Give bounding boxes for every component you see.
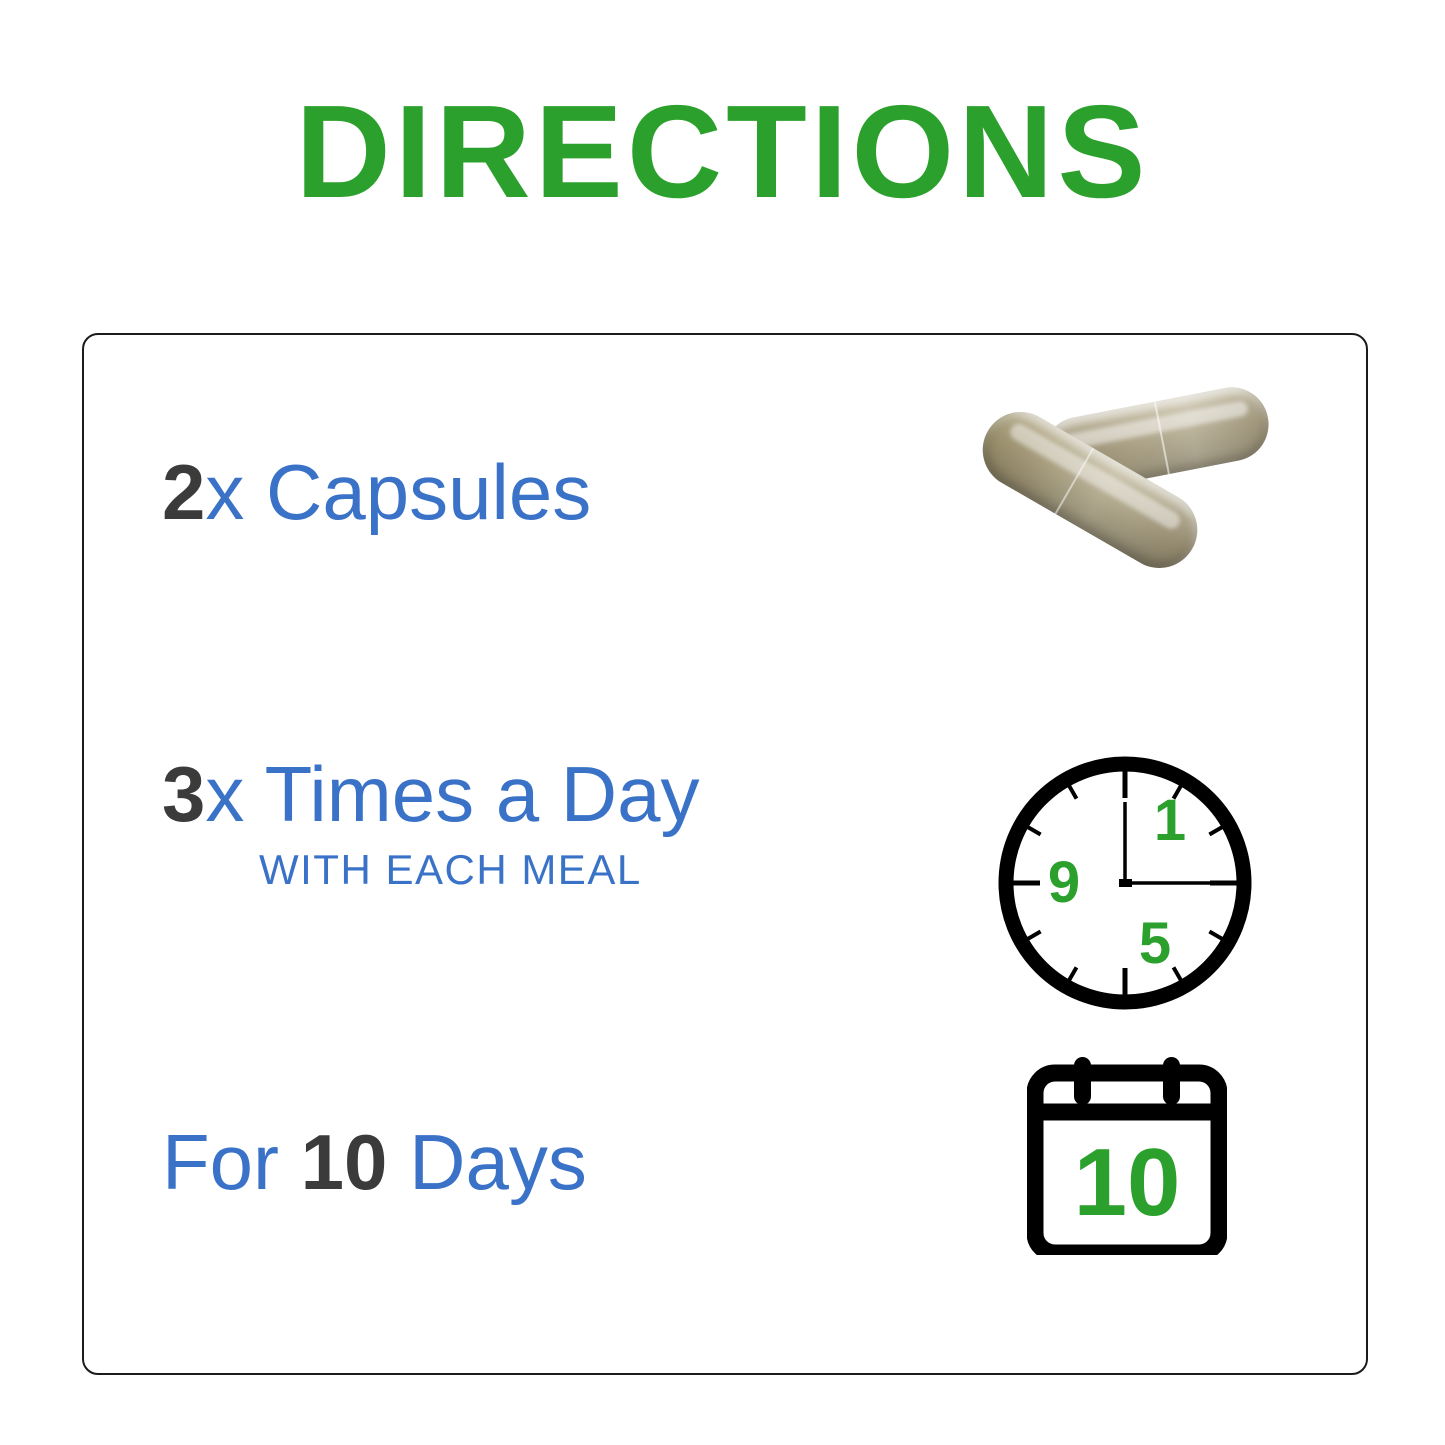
duration-prefix: For [162, 1118, 301, 1206]
capsules-quantity: 2 [162, 448, 205, 536]
capsules-text-line: 2x Capsules [162, 453, 591, 531]
duration-quantity: 10 [301, 1118, 388, 1206]
calendar-day-number: 10 [1074, 1129, 1181, 1236]
frequency-label: x Times a Day [205, 750, 699, 838]
duration-label: Days [387, 1118, 586, 1206]
frequency-quantity: 3 [162, 750, 205, 838]
clock-center-hub [1119, 879, 1132, 887]
frequency-subtext: WITH EACH MEAL [259, 849, 642, 891]
clock-icon: 1 9 5 [992, 750, 1258, 1016]
clock-numeral-1: 1 [1154, 788, 1186, 853]
capsules-icon [964, 390, 1284, 590]
frequency-text-line: 3x Times a Day [162, 755, 700, 833]
capsules-label: x Capsules [205, 448, 591, 536]
clock-numeral-5: 5 [1139, 911, 1171, 976]
clock-numeral-9: 9 [1048, 850, 1080, 915]
duration-text-line: For 10 Days [162, 1123, 587, 1201]
calendar-icon: 10 [1027, 1055, 1227, 1255]
directions-card: 2x Capsules 3x Times a Day WITH EACH MEA… [82, 333, 1368, 1375]
page-title: DIRECTIONS [0, 86, 1445, 218]
capsule-highlight [1063, 400, 1249, 450]
